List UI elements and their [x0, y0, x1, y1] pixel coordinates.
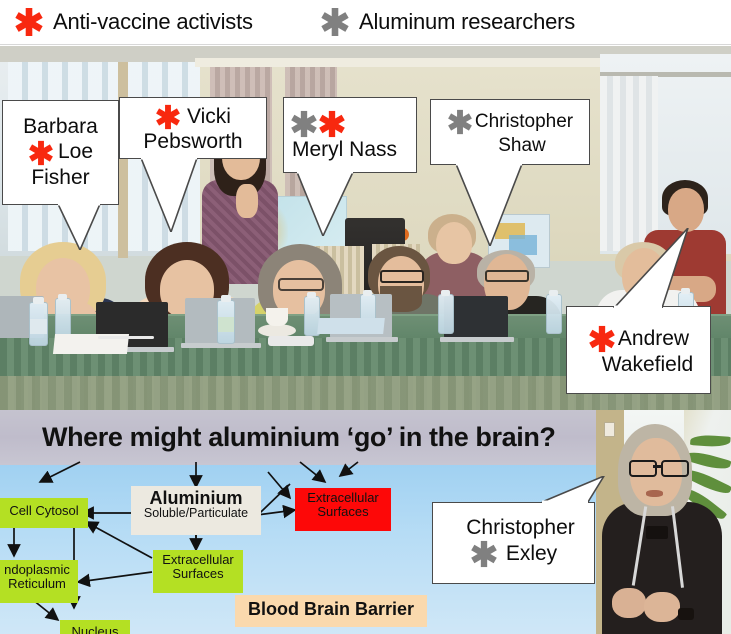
callout-line-christopher: Christopher: [475, 112, 573, 132]
water-bottle-2: [217, 300, 235, 344]
screenshot-root: Anti-vaccine activists Aluminum research…: [0, 0, 731, 634]
callout-line-vicki: Vicki: [187, 106, 231, 128]
glasses-icon: [629, 460, 685, 473]
node-label-line2: Surfaces: [157, 567, 239, 581]
callout-line-andrew: Andrew: [618, 328, 689, 350]
callout-line-wakefield: Wakefield: [590, 354, 705, 376]
callout-line-christopher: Christopher: [452, 517, 589, 539]
water-bottle-1: [29, 302, 48, 346]
legend-label-aluminum-researchers: Aluminum researchers: [359, 9, 575, 35]
water-bottle-3: [55, 298, 71, 338]
callout-meryl-nass[interactable]: Meryl Nass: [283, 97, 417, 173]
diagram-node-extracellular-surfaces-green: Extracellular Surfaces: [153, 550, 243, 593]
water-bottle-7: [546, 294, 562, 334]
red-asterisk-icon: [28, 139, 54, 167]
power-brick: [268, 336, 314, 346]
callout-tail-barbara: [58, 204, 108, 250]
callout-vicki-pebsworth[interactable]: Vicki Pebsworth: [119, 97, 267, 159]
coffee-cup: [266, 308, 288, 326]
node-label-line1: Extracellular: [299, 491, 387, 505]
node-label-line2: Surfaces: [299, 505, 387, 519]
papers-2: [317, 318, 385, 334]
exley-hand-left: [612, 588, 646, 618]
node-label: Blood Brain Barrier: [248, 599, 414, 619]
exley-hand-right: [644, 592, 680, 622]
callout-andrew-wakefield[interactable]: Andrew Wakefield: [566, 306, 711, 394]
gray-asterisk-icon: [320, 6, 350, 38]
slide-title: Where might aluminium ‘go’ in the brain?: [42, 422, 556, 453]
diagram-node-extracellular-surfaces-red: Extracellular Surfaces: [295, 488, 391, 531]
red-asterisk-icon: [14, 6, 44, 38]
node-label: Cell Cytosol: [9, 503, 78, 518]
legend-item-aluminum-researchers: Aluminum researchers: [320, 6, 575, 38]
gray-asterisk-icon: [290, 109, 318, 139]
callout-line-fisher: Fisher: [8, 167, 113, 189]
node-label-line1: Extracellular: [157, 553, 239, 567]
callout-christopher-shaw[interactable]: Christopher Shaw: [430, 99, 590, 165]
node-label-line2: Reticulum: [0, 577, 74, 591]
callout-line-pebsworth: Pebsworth: [125, 131, 261, 153]
cable-1: [98, 336, 154, 339]
legend-divider: [0, 44, 731, 45]
callout-line-meryl-nass: Meryl Nass: [292, 139, 412, 161]
diagram-node-blood-brain-barrier: Blood Brain Barrier: [235, 595, 427, 627]
gray-asterisk-icon: [447, 108, 473, 136]
exley-mouth: [646, 490, 663, 497]
legend-label-anti-vaccine-activists: Anti-vaccine activists: [53, 9, 253, 35]
wristwatch: [678, 608, 694, 620]
callout-tail-vicki: [141, 158, 205, 232]
callout-barbara-loe-fisher[interactable]: Barbara Loe: [2, 100, 119, 205]
diagram-node-aluminium: Aluminium Soluble/Particulate: [131, 486, 261, 535]
node-label-sub: Soluble/Particulate: [131, 507, 261, 521]
christopher-exley-video: [596, 410, 731, 634]
slide-title-band: Where might aluminium ‘go’ in the brain?: [0, 410, 596, 465]
light-switch: [604, 422, 615, 437]
callout-line-barbara: Barbara: [8, 116, 113, 138]
red-asterisk-icon: [155, 103, 181, 131]
callout-tail-meryl: [297, 172, 361, 236]
callout-tail-exley: [536, 476, 608, 504]
callout-tail-shaw: [456, 164, 530, 246]
callout-tail-wakefield: [602, 228, 690, 308]
lapel-microphone: [646, 526, 668, 539]
water-bottle-6: [438, 294, 454, 334]
red-asterisk-icon: [588, 324, 616, 354]
callout-line-exley: Exley: [506, 543, 557, 565]
legend-bar: Anti-vaccine activists Aluminum research…: [0, 0, 731, 45]
node-label: Nucleus: [72, 624, 119, 634]
callout-line-shaw: Shaw: [460, 136, 584, 156]
legend-item-anti-vaccine-activists: Anti-vaccine activists: [14, 6, 253, 38]
gray-asterisk-icon: [470, 539, 498, 569]
conference-room-photo: Barbara Loe: [0, 46, 731, 410]
red-asterisk-icon: [318, 109, 346, 139]
diagram-node-endoplasmic-reticulum: ndoplasmic Reticulum: [0, 560, 78, 603]
node-label-line1: ndoplasmic: [0, 563, 74, 577]
callout-christopher-exley[interactable]: Christopher Exley: [432, 502, 595, 584]
callout-line-loe: Loe: [58, 141, 93, 163]
diagram-node-cell-cytosol: Cell Cytosol: [0, 498, 88, 528]
diagram-node-nucleus: Nucleus: [60, 620, 130, 634]
